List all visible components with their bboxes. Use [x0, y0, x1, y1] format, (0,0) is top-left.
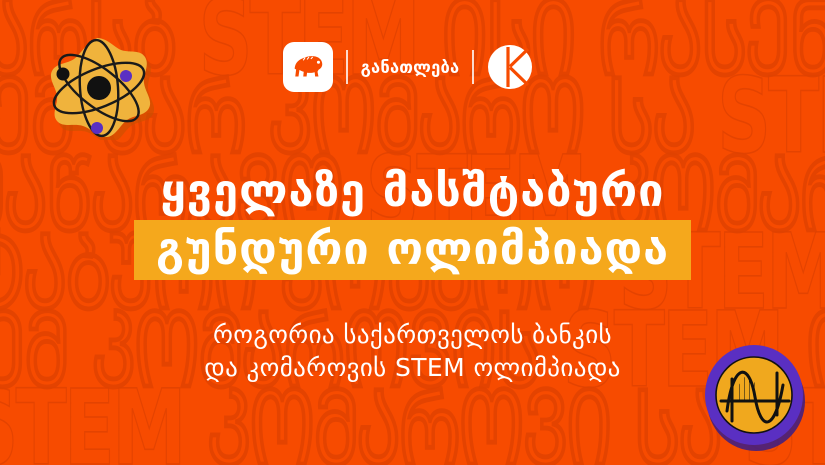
bank-of-georgia-lion-icon: [283, 42, 333, 92]
lockup-divider: [472, 50, 474, 84]
partner-logo-lockup: განათლება: [283, 40, 533, 94]
headline-line-2: გუნდური ოლიმპიადა: [134, 220, 691, 280]
headline: ყველაზე მასშტაბური გუნდური ოლიმპიადა: [0, 166, 825, 280]
atom-icon: [34, 28, 154, 140]
integral-badge-icon: [699, 339, 809, 457]
lockup-divider: [346, 50, 348, 84]
education-label: განათლება: [361, 58, 460, 77]
komarovi-k-icon: [487, 44, 533, 90]
headline-highlight-bar: გუნდური ოლიმპიადა: [0, 220, 825, 280]
background-pattern-row: ᲡᲐᲠᲡ STEM ᲙᲝᲛᲐᲠᲝᲕᲘ ᲡᲐ STEM: [0, 376, 614, 465]
promo-banner: ᲡᲐᲠᲡᲑ STEM ᲘᲡᲘ ᲠᲐᲡᲔᲜᲘ ᲡᲐ STEM ᲘᲡᲐ ᲐᲡᲗᲔᲛ …: [0, 0, 825, 465]
headline-line-1: ყველაზე მასშტაბური: [0, 166, 825, 216]
